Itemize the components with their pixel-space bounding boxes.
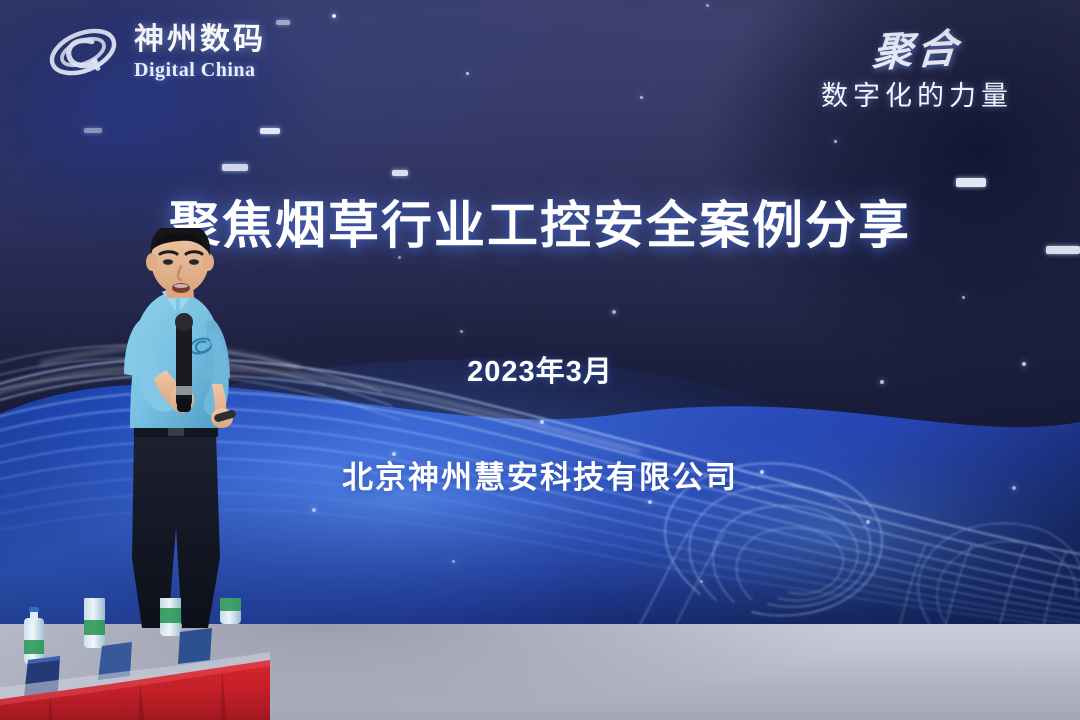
microphone xyxy=(175,313,193,412)
front-table xyxy=(0,598,260,720)
presenter-figure xyxy=(96,228,276,628)
presenter xyxy=(96,228,276,628)
screenshot-root: 神州数码 Digital China 聚合 数字化的力量 聚焦烟草行业工控安全案… xyxy=(0,0,1080,720)
front-table-graphic xyxy=(0,598,270,720)
